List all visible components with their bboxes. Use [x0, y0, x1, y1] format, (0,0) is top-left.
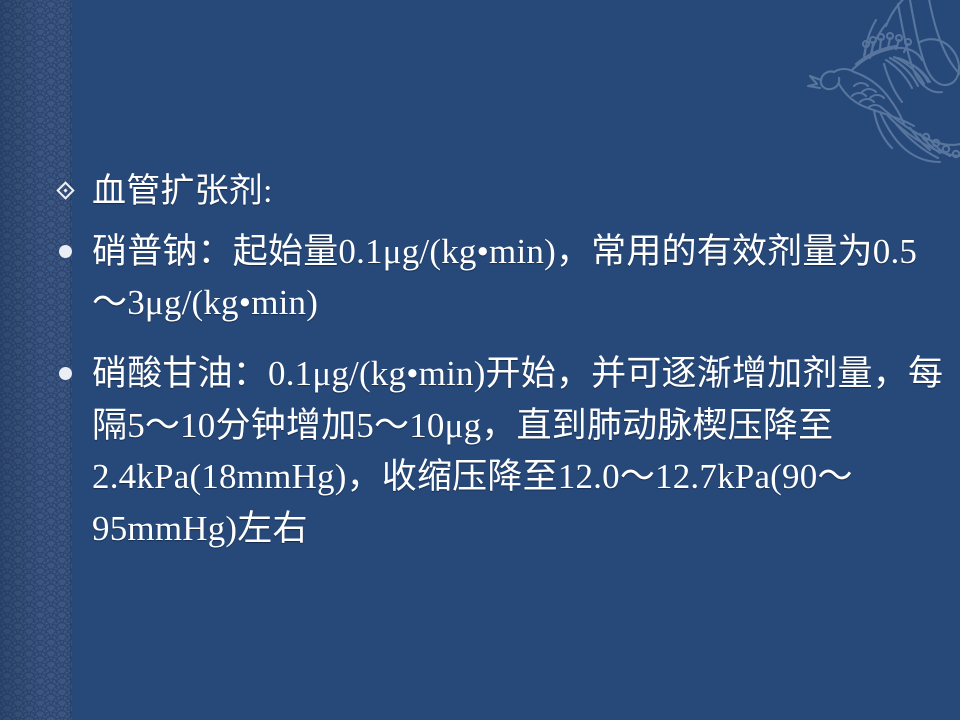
- presentation-slide: 血管扩张剂: 硝普钠：起始量0.1μg/(kg•min)，常用的有效剂量为0.5…: [0, 0, 960, 720]
- bullet-heading-text: 血管扩张剂:: [92, 168, 946, 216]
- slide-body-content: 血管扩张剂: 硝普钠：起始量0.1μg/(kg•min)，常用的有效剂量为0.5…: [56, 168, 946, 554]
- filled-disc-bullet-icon: [56, 226, 92, 258]
- bullet-item-heading: 血管扩张剂:: [56, 168, 946, 216]
- filled-disc-bullet-icon: [56, 348, 92, 380]
- diamond-outline-bullet-icon: [56, 168, 92, 197]
- bullet-item-nitroglycerin: 硝酸甘油：0.1μg/(kg•min)开始，并可逐渐增加剂量，每隔5～10分钟增…: [56, 348, 946, 554]
- phoenix-bird-ornament-icon: [790, 0, 960, 180]
- bullet-text-nitroglycerin: 硝酸甘油：0.1μg/(kg•min)开始，并可逐渐增加剂量，每隔5～10分钟增…: [92, 348, 946, 554]
- bullet-text-sodium-nitroprusside: 硝普钠：起始量0.1μg/(kg•min)，常用的有效剂量为0.5～3μg/(k…: [92, 226, 946, 329]
- bullet-item-sodium-nitroprusside: 硝普钠：起始量0.1μg/(kg•min)，常用的有效剂量为0.5～3μg/(k…: [56, 226, 946, 329]
